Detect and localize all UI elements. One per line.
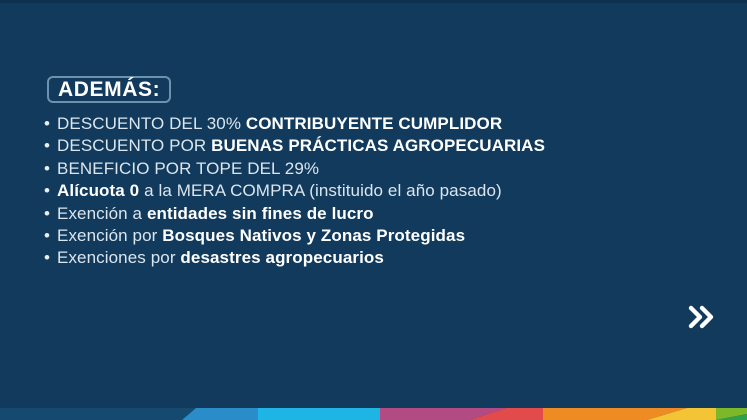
list-item-text-regular-before: Exenciones por [57,248,180,267]
list-item: • Alícuota 0 a la MERA COMPRA (instituid… [44,180,684,202]
list-item-text: Exención por Bosques Nativos y Zonas Pro… [57,225,465,247]
bullet-marker-icon: • [44,158,57,180]
list-item-text-regular-before: DESCUENTO POR [57,136,211,155]
bullet-marker-icon: • [44,247,57,269]
bullet-marker-icon: • [44,225,57,247]
list-item: • BENEFICIO POR TOPE DEL 29% [44,158,684,180]
list-item-text-regular-before: BENEFICIO POR TOPE DEL 29% [57,159,319,178]
bullet-marker-icon: • [44,203,57,225]
list-item-text-regular-before: Exención a [57,204,147,223]
slide-root: ADEMÁS: • DESCUENTO DEL 30% CONTRIBUYENT… [0,0,747,420]
list-item-text: BENEFICIO POR TOPE DEL 29% [57,158,319,180]
list-item: • Exención por Bosques Nativos y Zonas P… [44,225,684,247]
double-chevron-right-icon [688,304,718,330]
list-item-text: DESCUENTO POR BUENAS PRÁCTICAS AGROPECUA… [57,135,545,157]
list-item: • DESCUENTO POR BUENAS PRÁCTICAS AGROPEC… [44,135,684,157]
list-item: • Exención a entidades sin fines de lucr… [44,203,684,225]
section-title-chip: ADEMÁS: [47,76,171,103]
strip-segment-dark-blue [0,408,196,420]
list-item-text-bold: BUENAS PRÁCTICAS AGROPECUARIAS [211,136,545,155]
footer-color-strip [0,408,747,420]
top-rule-divider [0,0,747,3]
page-title: ADEMÁS: [58,79,160,100]
list-item-text-regular-after: a la MERA COMPRA (instituido el año pasa… [139,181,502,200]
bullet-marker-icon: • [44,180,57,202]
list-item-text-regular-before: Exención por [57,226,162,245]
list-item-text: DESCUENTO DEL 30% CONTRIBUYENTE CUMPLIDO… [57,113,502,135]
bullet-marker-icon: • [44,113,57,135]
bullet-marker-icon: • [44,135,57,157]
list-item-text: Exenciones por desastres agropecuarios [57,247,384,269]
next-slide-button[interactable] [688,304,718,330]
list-item-text: Alícuota 0 a la MERA COMPRA (instituido … [57,180,502,202]
footer-strip-graphic [0,408,747,420]
list-item-text-bold: entidades sin fines de lucro [147,204,374,223]
list-item: • Exenciones por desastres agropecuarios [44,247,684,269]
list-item-text-bold: Bosques Nativos y Zonas Protegidas [162,226,465,245]
strip-segment-cyan [258,408,380,420]
list-item-text-bold: Alícuota 0 [57,181,139,200]
list-item-text-bold: desastres agropecuarios [180,248,384,267]
benefits-list: • DESCUENTO DEL 30% CONTRIBUYENTE CUMPLI… [44,113,684,270]
list-item-text-regular-before: DESCUENTO DEL 30% [57,114,246,133]
list-item-text-bold: CONTRIBUYENTE CUMPLIDOR [246,114,502,133]
list-item: • DESCUENTO DEL 30% CONTRIBUYENTE CUMPLI… [44,113,684,135]
list-item-text: Exención a entidades sin fines de lucro [57,203,374,225]
